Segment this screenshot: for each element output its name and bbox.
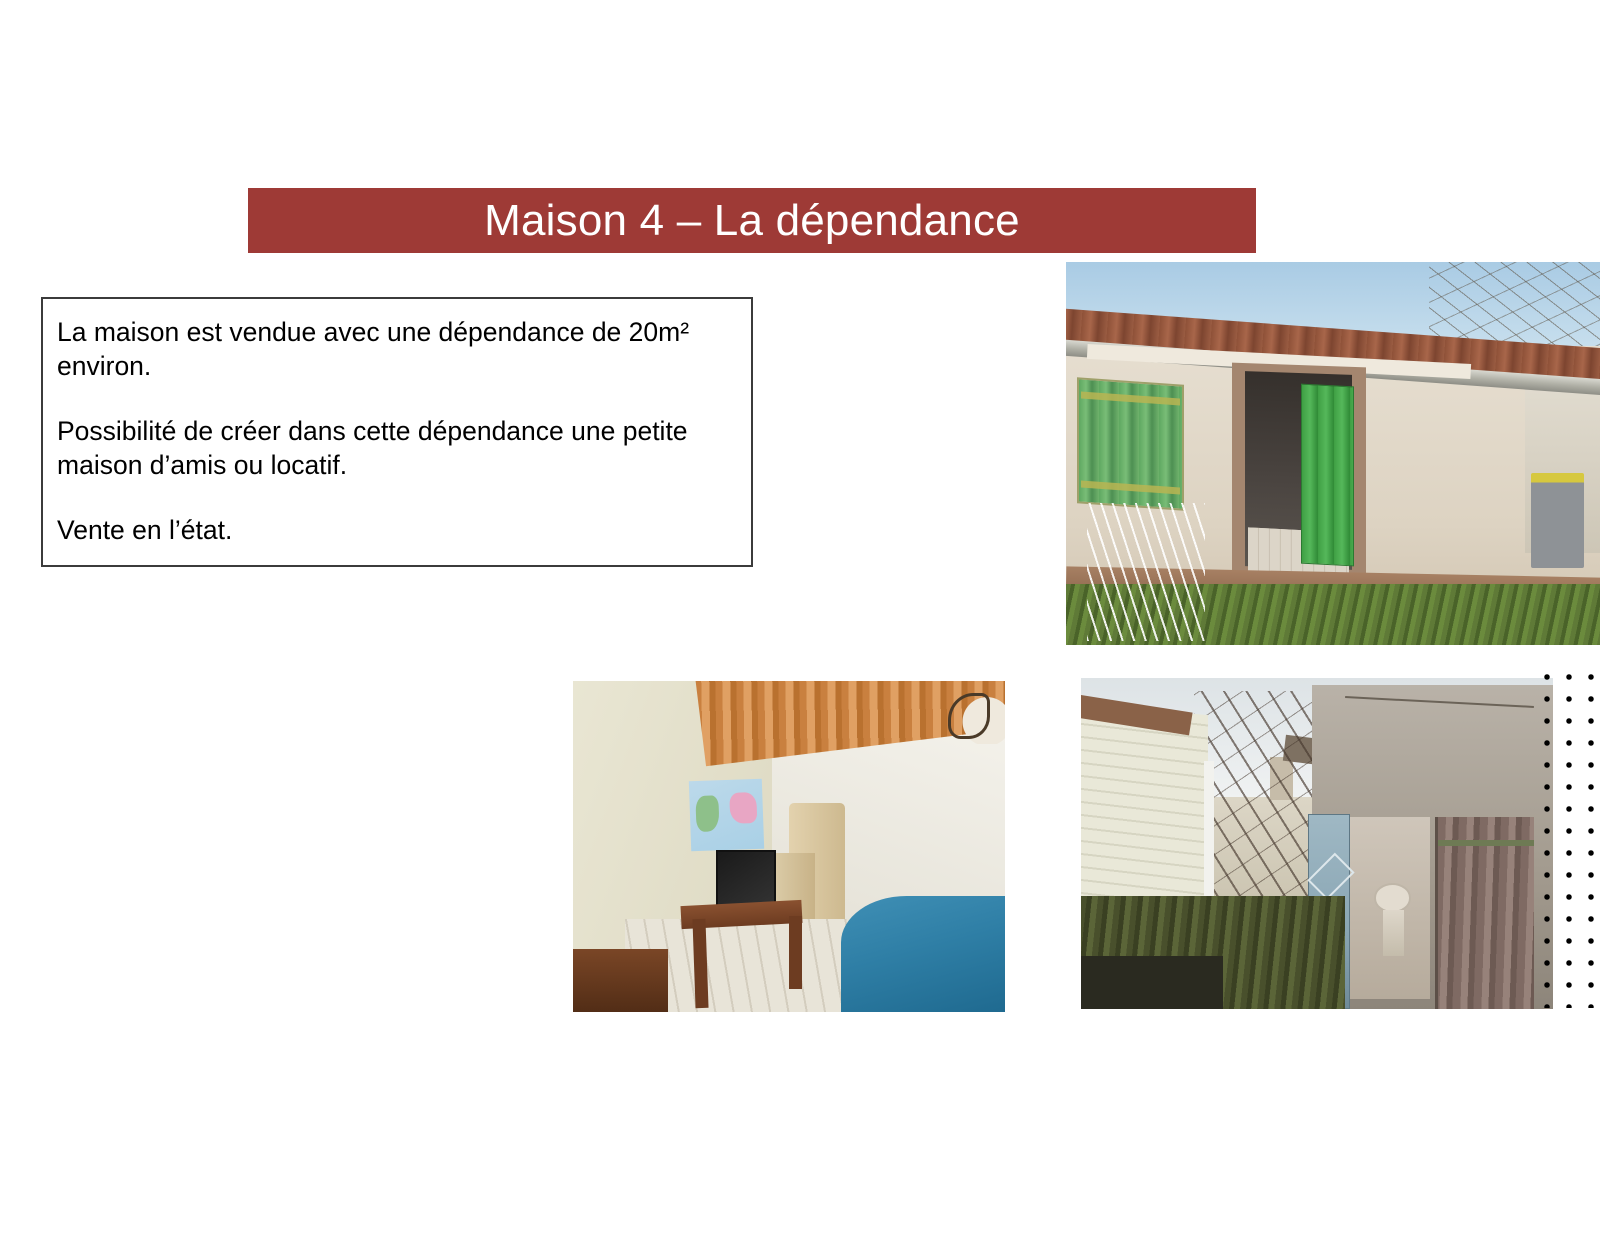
photo-green-shutter [1077,377,1184,511]
description-textbox: La maison est vendue avec une dépendance… [41,297,753,567]
photo-metal-railing [1087,503,1204,641]
photo-waste-bin [1531,473,1584,569]
paragraph-spacer [57,384,737,414]
slide-canvas: Maison 4 – La dépendance La maison est v… [0,0,1600,1236]
photo-ceiling-lamp [945,688,1005,744]
photo-television [716,850,776,910]
paragraph-spacer [57,483,737,513]
photo-ground-shadow [1081,956,1223,1009]
slide-title-bar: Maison 4 – La dépendance [248,188,1256,253]
description-paragraph-2: Possibilité de créer dans cette dépendan… [57,414,737,483]
photo-blue-bed [841,896,1005,1012]
page-title: Maison 4 – La dépendance [484,199,1020,243]
photo-dependance-exterior [1066,262,1600,645]
photo-green-door [1301,383,1354,566]
photo-wooden-bench [573,949,668,1012]
photo-desk-leg-right [789,916,802,989]
description-paragraph-1: La maison est vendue avec une dépendance… [57,315,737,384]
description-paragraph-3: Vente en l’état. [57,513,737,547]
photo-wooden-door [1435,817,1534,1009]
decorative-dot-grid [1530,660,1600,1008]
photo-world-map-poster [688,779,764,851]
photo-toilet-seat [1374,883,1412,913]
photo-bedroom-interior [573,681,1005,1012]
photo-outdoor-wc [1081,678,1553,1009]
photo-toilet-base [1383,910,1404,956]
